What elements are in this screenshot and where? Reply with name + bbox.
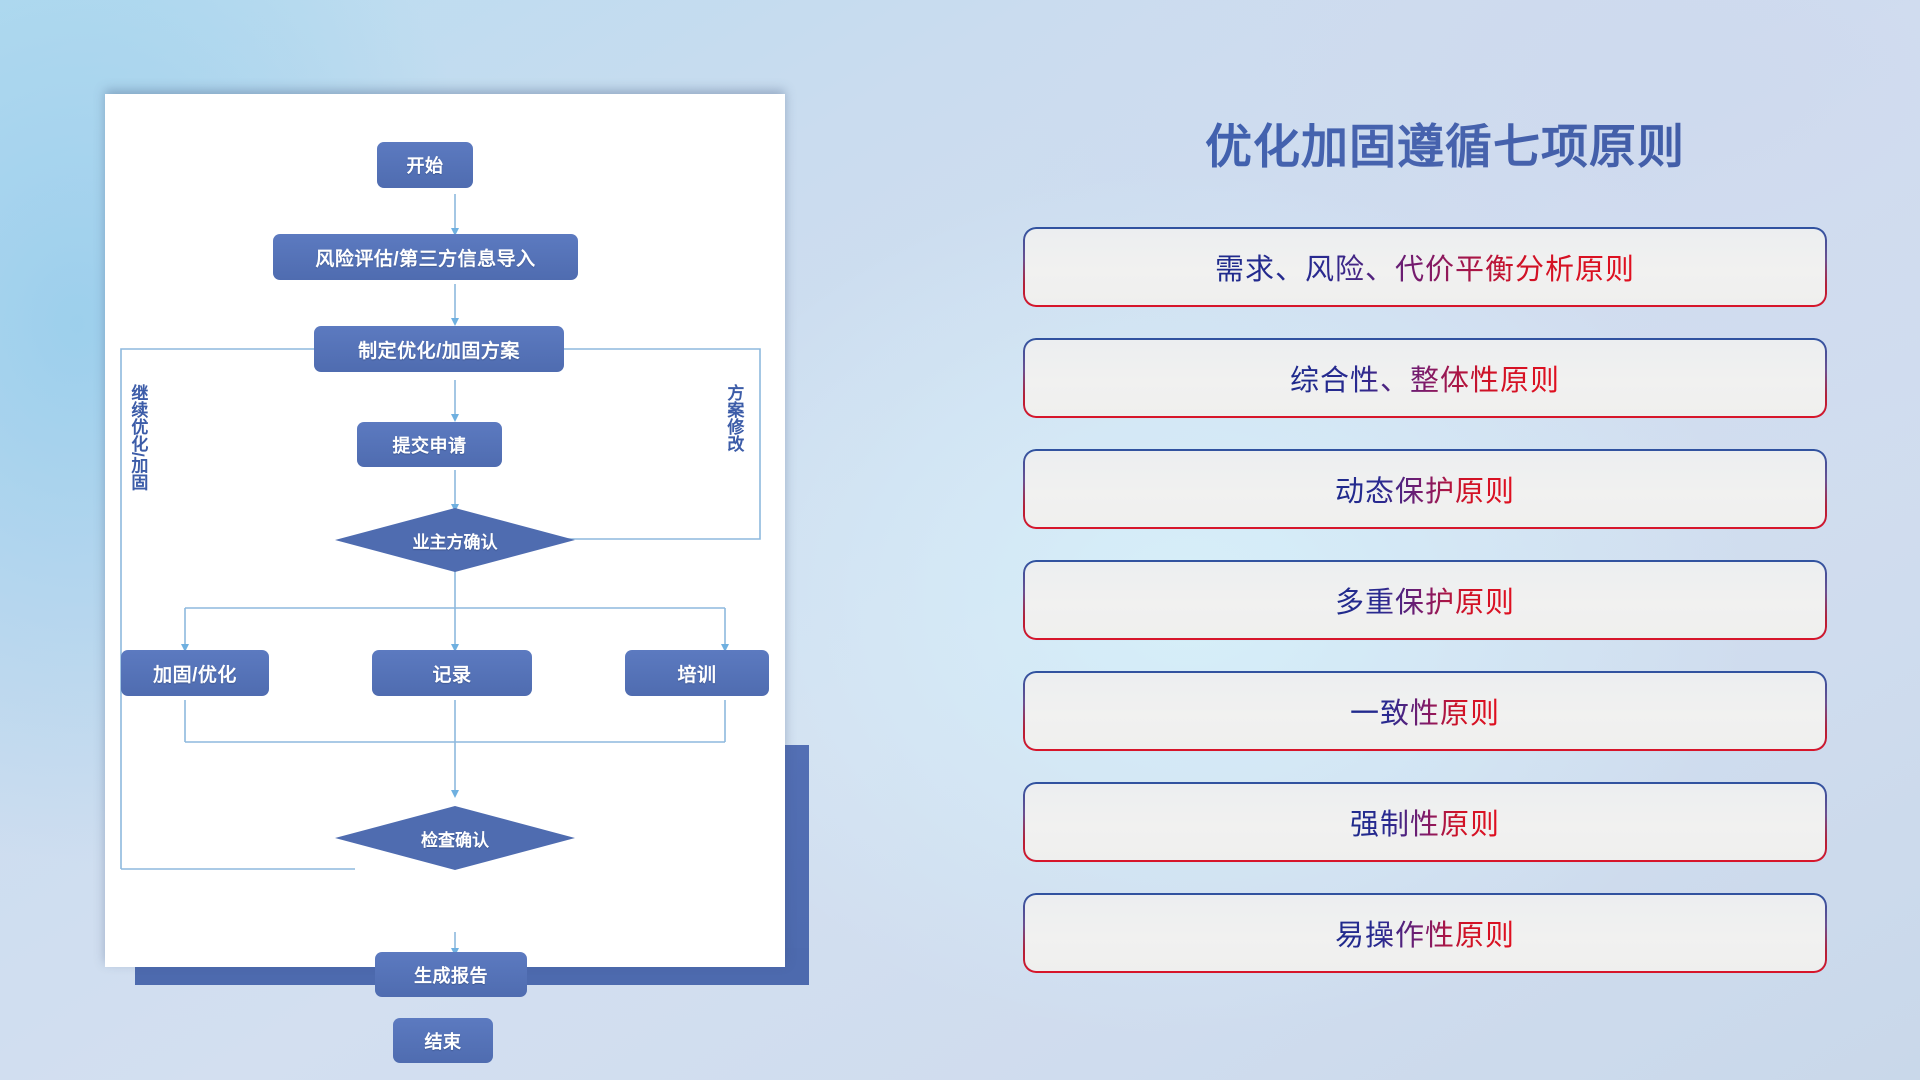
principle-item-4-label: 多重保护原则 [1335,579,1515,621]
principle-item-7-label: 易操作性原则 [1335,912,1515,954]
principles-list: 需求、风险、代价平衡分析原则 综合性、整体性原则 动态保护原则 多重保护原则 一… [1025,229,1825,1006]
principle-item-4[interactable]: 多重保护原则 [1025,562,1825,638]
principle-item-2-label: 综合性、整体性原则 [1290,357,1560,399]
principle-item-6-label: 强制性原则 [1350,801,1500,843]
diamond-shape [335,806,575,870]
flow-edge-label-plan-revision: 方案修改 [725,384,742,452]
principle-item-1[interactable]: 需求、风险、代价平衡分析原则 [1025,229,1825,305]
flow-node-record[interactable]: 记录 [372,650,532,696]
flow-node-plan-label: 制定优化/加固方案 [358,336,520,363]
flow-node-report[interactable]: 生成报告 [375,952,527,997]
flow-node-owner-confirm[interactable]: 业主方确认 [335,508,575,572]
flow-node-end[interactable]: 结束 [393,1018,493,1063]
flow-node-reinforce-label: 加固/优化 [153,660,237,687]
flow-node-training[interactable]: 培训 [625,650,769,696]
principle-item-2[interactable]: 综合性、整体性原则 [1025,340,1825,416]
flow-node-training-label: 培训 [677,660,716,687]
slide-root: 开始 风险评估/第三方信息导入 制定优化/加固方案 提交申请 业主方确认 加固/… [0,0,1920,1080]
flow-node-submit-label: 提交申请 [393,432,467,458]
principles-title: 优化加固遵循七项原则 [1025,108,1865,177]
flow-node-reinforce[interactable]: 加固/优化 [121,650,269,696]
flow-node-end-label: 结束 [425,1028,462,1054]
flow-node-plan[interactable]: 制定优化/加固方案 [314,326,564,372]
flowchart-card: 开始 风险评估/第三方信息导入 制定优化/加固方案 提交申请 业主方确认 加固/… [105,94,785,967]
principle-item-3[interactable]: 动态保护原则 [1025,451,1825,527]
principle-item-5-label: 一致性原则 [1350,690,1500,732]
principle-item-3-label: 动态保护原则 [1335,468,1515,510]
principle-item-6[interactable]: 强制性原则 [1025,784,1825,860]
flow-node-start-label: 开始 [407,152,444,178]
flow-node-report-label: 生成报告 [414,962,488,988]
flow-node-risk-assessment[interactable]: 风险评估/第三方信息导入 [273,234,578,280]
principle-item-1-label: 需求、风险、代价平衡分析原则 [1215,246,1635,288]
flow-node-submit[interactable]: 提交申请 [357,422,502,467]
principle-item-5[interactable]: 一致性原则 [1025,673,1825,749]
flow-edge-label-continue-optimize: 继续优化/加固 [129,384,146,491]
principle-item-7[interactable]: 易操作性原则 [1025,895,1825,971]
flow-node-start[interactable]: 开始 [377,142,473,188]
flow-node-check-confirm[interactable]: 检查确认 [335,806,575,870]
flow-node-record-label: 记录 [432,660,471,687]
flow-node-risk-assessment-label: 风险评估/第三方信息导入 [315,244,535,271]
diamond-shape [335,508,575,572]
